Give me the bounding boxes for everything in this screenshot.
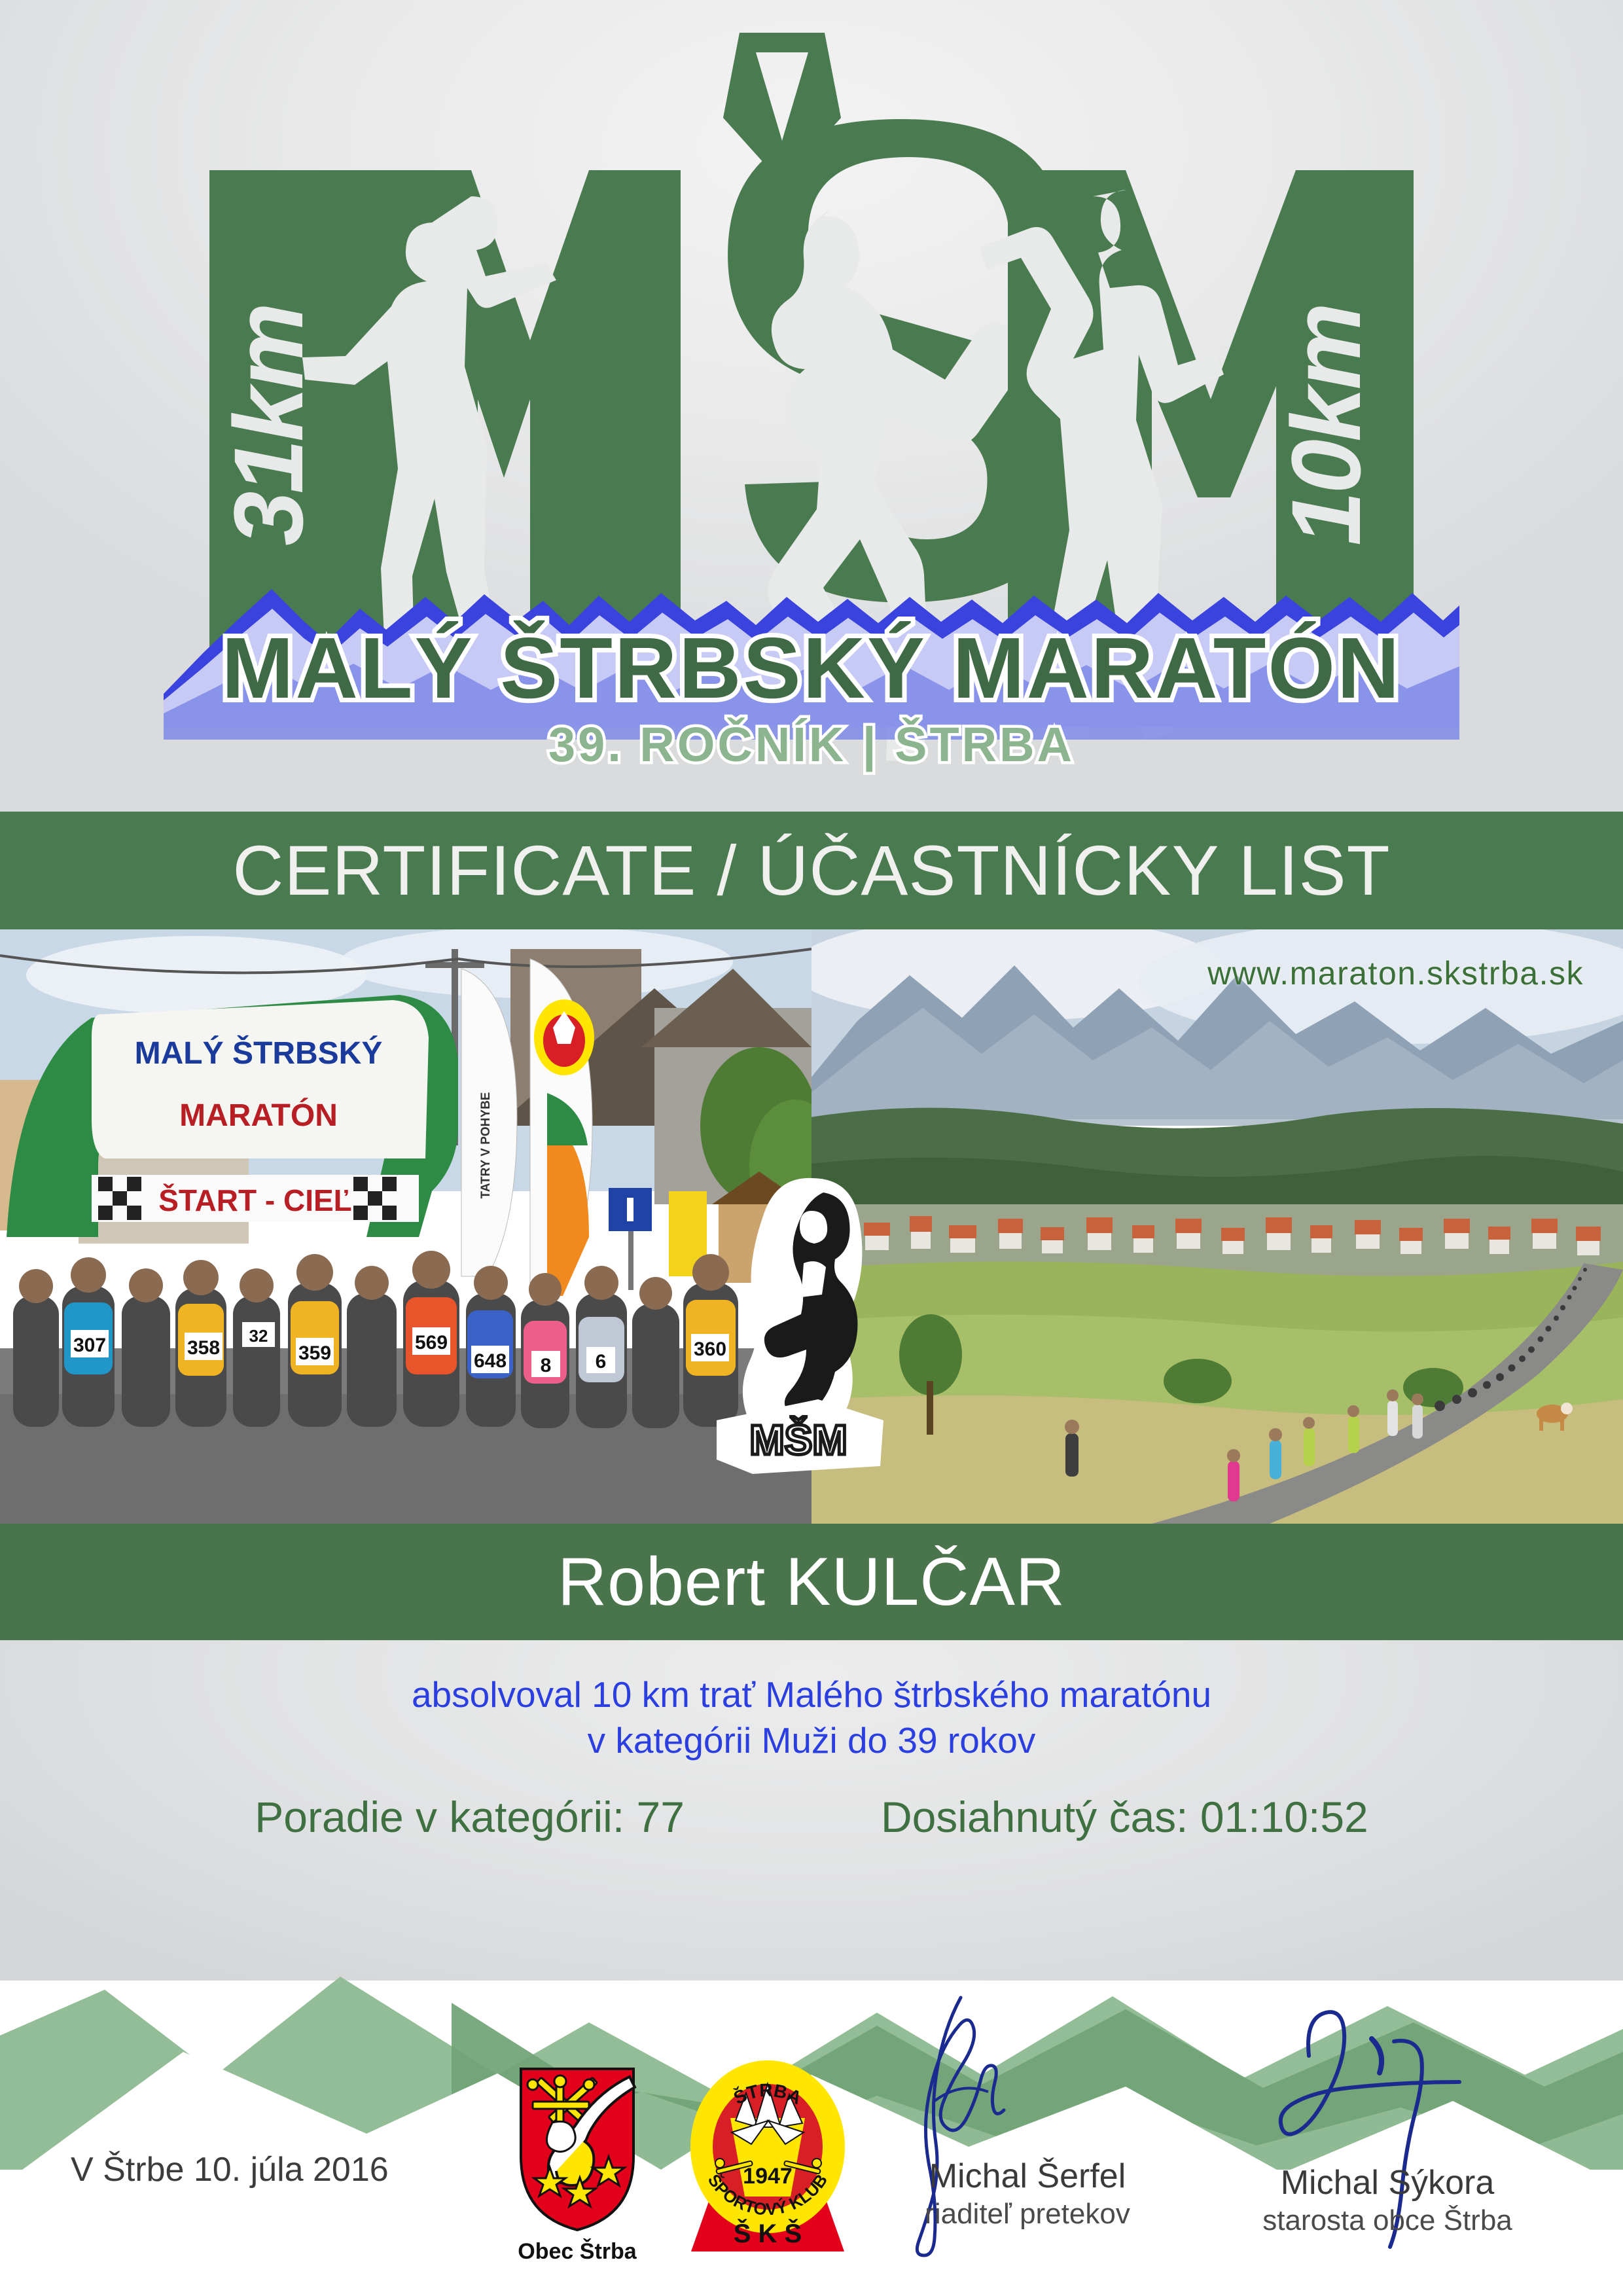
website-url: www.maraton.skstrba.sk	[1207, 954, 1584, 992]
mayor-role: starosta obce Štrba	[1204, 2205, 1571, 2236]
mayor-name: Michal Sýkora	[1204, 2165, 1571, 2201]
sks-bottom-text: Š K Š	[734, 2218, 802, 2248]
svg-text:307: 307	[73, 1335, 106, 1356]
participant-name-band: Robert KULČAR	[0, 1524, 1623, 1640]
msm-runner-badge: MŠM	[713, 1172, 910, 1486]
obec-caption: Obec Štrba	[518, 2238, 637, 2264]
distance-31km: 31km	[213, 305, 323, 546]
svg-text:358: 358	[187, 1337, 220, 1359]
certificate-title-band: CERTIFICATE / ÚČASTNÍCKY LIST	[0, 812, 1623, 929]
certificate-title: CERTIFICATE / ÚČASTNÍCKY LIST	[232, 835, 1390, 906]
signature-block-mayor: Michal Sýkora starosta obce Štrba	[1204, 2165, 1571, 2236]
svg-text:32: 32	[249, 1326, 268, 1346]
event-logo: 31km 10km	[0, 0, 1623, 812]
svg-text:648: 648	[474, 1350, 507, 1372]
event-title-wrap: MALÝ ŠTRBSKÝ MARATÓN 39. ROČNÍK | ŠTRBA	[0, 625, 1623, 769]
msm-badge-wordmark: MŠM	[717, 1399, 883, 1474]
obec-strba-coat-of-arms: Obec Štrba	[504, 2058, 661, 2274]
svg-text:10km: 10km	[1271, 305, 1381, 546]
photo-landscape: www.maraton.skstrba.sk	[811, 929, 1623, 1524]
svg-text:8: 8	[541, 1355, 552, 1376]
result-description: absolvoval 10 km trať Malého štrbského m…	[0, 1672, 1623, 1764]
svg-text:MŠM: MŠM	[749, 1416, 847, 1463]
photo-start-line: MALÝ ŠTRBSKÝ MARATÓN ŠTART - CIEĽ	[0, 929, 811, 1524]
director-name: Michal Šerfel	[844, 2159, 1211, 2195]
finish-time: Dosiahnutý čas: 01:10:52	[881, 1792, 1368, 1842]
result-figures: Poradie v kategórii: 77 Dosiahnutý čas: …	[0, 1792, 1623, 1842]
category-rank: Poradie v kategórii: 77	[255, 1792, 685, 1842]
description-line-2: v kategórii Muži do 39 rokov	[0, 1717, 1623, 1763]
footer: V Štrbe 10. júla 2016	[0, 2081, 1623, 2296]
description-line-1: absolvoval 10 km trať Malého štrbského m…	[0, 1672, 1623, 1717]
participant-name: Robert KULČAR	[558, 1543, 1065, 1621]
sks-year: 1947	[743, 2164, 793, 2189]
event-title: MALÝ ŠTRBSKÝ MARATÓN	[0, 625, 1623, 711]
svg-text:6: 6	[596, 1351, 607, 1372]
svg-text:359: 359	[298, 1342, 331, 1364]
arch-title-line1: MALÝ ŠTRBSKÝ	[135, 1035, 383, 1071]
event-subtitle: 39. ROČNÍK | ŠTRBA	[0, 721, 1623, 769]
photo-landscape-svg	[811, 929, 1623, 1524]
distance-10km: 10km	[1271, 305, 1381, 546]
svg-text:TATRY V POHYBE: TATRY V POHYBE	[479, 1092, 493, 1199]
place-and-date: V Štrbe 10. júla 2016	[71, 2150, 389, 2189]
photo-strip: MALÝ ŠTRBSKÝ MARATÓN ŠTART - CIEĽ	[0, 929, 1623, 1524]
sks-strba-logo: 1947 ŠTRBA ŠPORTOVÝ KLUB Š K Š	[686, 2055, 849, 2265]
signature-block-director: Michal Šerfel riaditeľ pretekov	[844, 2159, 1211, 2230]
certificate-page: 31km 10km	[0, 0, 1623, 2296]
svg-text:569: 569	[415, 1332, 448, 1354]
arch-banner-text: ŠTART - CIEĽ	[158, 1183, 352, 1217]
svg-text:31km: 31km	[213, 305, 323, 546]
photo-start-line-svg: MALÝ ŠTRBSKÝ MARATÓN ŠTART - CIEĽ	[0, 929, 811, 1524]
director-role: riaditeľ pretekov	[844, 2198, 1211, 2230]
arch-title-line2: MARATÓN	[179, 1097, 338, 1133]
